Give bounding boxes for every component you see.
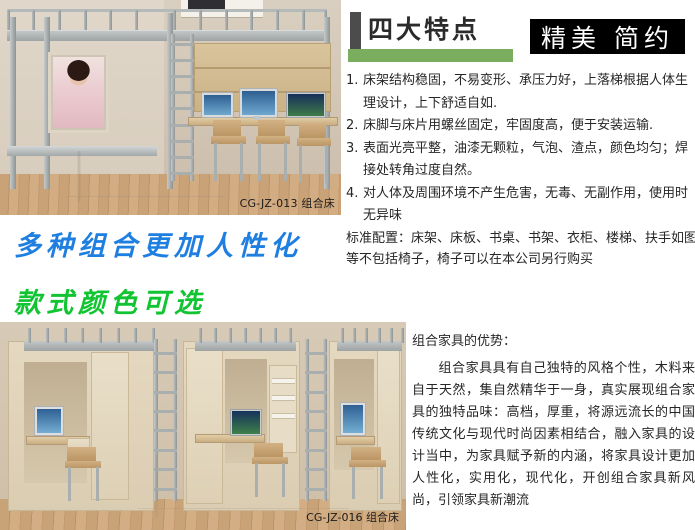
features-heading: 四大特点 bbox=[368, 10, 480, 46]
monitor-2 bbox=[239, 88, 279, 118]
slogan-color-options: 款式颜色可选 bbox=[14, 281, 206, 320]
advantages-panel: 组合家具的优势： 组合家具具有自己独特的风格个性，木料来自于天然，集自然精华于一… bbox=[412, 322, 695, 530]
desk-surface bbox=[336, 436, 376, 444]
header-accent-bar bbox=[350, 12, 361, 50]
laptop-1 bbox=[286, 92, 326, 118]
slogan-combination: 多种组合更加人性化 bbox=[14, 224, 302, 263]
chair-3 bbox=[297, 123, 331, 183]
chair-1 bbox=[65, 447, 102, 501]
feature-number: 3. bbox=[346, 138, 363, 161]
monitor-1 bbox=[201, 92, 234, 118]
bookshelf bbox=[269, 365, 297, 453]
product-flyer-page: CG-JZ-013 组合床 多种组合更加人性化 款式颜色可选 四大特点 精美 简… bbox=[0, 0, 695, 530]
bed-post-left bbox=[10, 17, 16, 189]
chair-3 bbox=[349, 447, 386, 499]
advantages-body-text: 组合家具具有自己独特的风格个性，木料来自于天然，集自然精华于一身，真实展现组合家… bbox=[412, 361, 695, 508]
photo-watermark bbox=[68, 151, 225, 203]
feature-text: 床架结构稳固，不易变形、承压力好，上落梯根据人体生理设计，上下舒适自如. bbox=[363, 70, 695, 115]
bottom-product-photo: CG-JZ-016 组合床 bbox=[0, 322, 406, 530]
features-panel: 四大特点 精美 简约 1. 床架结构稳固，不易变形、承压力好，上落梯根据人体生理… bbox=[344, 0, 695, 300]
guardrail-bars-2 bbox=[199, 328, 292, 343]
guardrail-bars-3 bbox=[341, 328, 402, 343]
bottom-photo-caption: CG-JZ-016 组合床 bbox=[306, 509, 399, 525]
poster-image bbox=[53, 57, 104, 129]
wall-poster bbox=[48, 52, 109, 134]
feature-text: 对人体及周围环境不产生危害，无毒、无副作用，使用时无异味 bbox=[363, 183, 695, 228]
feature-text: 表面光亮平整，油漆无颗粒，气泡、渣点，颜色均匀；焊接处转角过度自然。 bbox=[363, 138, 695, 183]
advantages-title: 组合家具的优势： bbox=[412, 330, 516, 349]
quality-badge-label: 精美 简约 bbox=[530, 19, 685, 54]
feature-item: 3. 表面光亮平整，油漆无颗粒，气泡、渣点，颜色均匀；焊接处转角过度自然。 bbox=[346, 138, 695, 183]
feature-item: 1. 床架结构稳固，不易变形、承压力好，上落梯根据人体生理设计，上下舒适自如. bbox=[346, 70, 695, 115]
standard-configuration-text: 标准配置：床架、床板、书桌、书架、衣柜、楼梯、扶手如图等不包括椅子，椅子可以在本… bbox=[346, 228, 695, 270]
feature-item: 4. 对人体及周围环境不产生危害，无毒、无副作用，使用时无异味 bbox=[346, 183, 695, 228]
chair-2 bbox=[256, 120, 290, 180]
feature-text: 床脚与床片用螺丝固定，牢固度高，便于安装运输. bbox=[363, 115, 695, 138]
laptop bbox=[230, 409, 262, 436]
feature-number: 4. bbox=[346, 183, 363, 206]
feature-number: 1. bbox=[346, 70, 363, 93]
top-product-photo: CG-JZ-013 组合床 bbox=[0, 0, 341, 215]
monitor bbox=[34, 406, 65, 437]
feature-number: 2. bbox=[346, 115, 363, 138]
guardrail-bars-1 bbox=[28, 328, 154, 343]
advantages-body: 组合家具具有自己独特的风格个性，木料来自于天然，集自然精华于一身，真实展现组合家… bbox=[412, 358, 695, 512]
feature-item: 2. 床脚与床片用螺丝固定，牢固度高，便于安装运输. bbox=[346, 115, 695, 138]
top-photo-caption: CG-JZ-013 组合床 bbox=[240, 195, 335, 211]
monitor bbox=[340, 402, 366, 436]
features-list: 1. 床架结构稳固，不易变形、承压力好，上落梯根据人体生理设计，上下舒适自如. … bbox=[346, 70, 695, 228]
features-header: 四大特点 精美 简约 bbox=[344, 10, 695, 62]
header-underline-bar bbox=[348, 49, 513, 62]
quality-badge: 精美 简约 bbox=[530, 19, 685, 54]
